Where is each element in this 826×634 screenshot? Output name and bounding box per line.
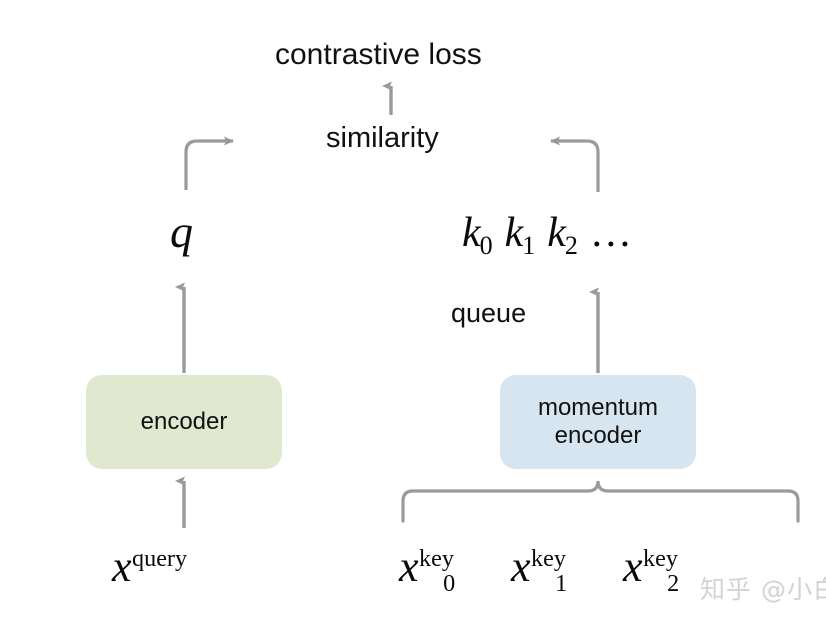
key-ellipsis: …	[590, 210, 634, 256]
encoder-box[interactable]: encoder	[86, 375, 282, 469]
input-x-key-1: xkey1	[511, 545, 568, 596]
k1-base: k	[505, 210, 524, 256]
momentum-encoder-box-label: momentum encoder	[538, 394, 658, 451]
input-x-query: xquery	[112, 545, 187, 589]
arrow-keys-to-similarity	[551, 141, 598, 192]
queue-label: queue	[451, 300, 526, 327]
x-key-1-superscript: key	[531, 545, 566, 572]
diagram-canvas: contrastive loss similarity queue q k0k1…	[0, 0, 826, 634]
x-key-2-base: x	[623, 542, 643, 591]
k0-base: k	[462, 210, 481, 256]
query-representation-symbol: q	[170, 209, 193, 255]
x-key-0-subscript: 0	[443, 570, 455, 597]
key-symbol-k0: k0	[462, 210, 493, 256]
arrow-layer	[0, 0, 826, 634]
x-key-0-superscript: key	[419, 545, 454, 572]
k1-subscript: 1	[522, 231, 535, 260]
x-query-superscript: query	[132, 545, 187, 572]
x-key-0-base: x	[399, 542, 419, 591]
k2-base: k	[547, 210, 566, 256]
key-inputs-brace	[403, 481, 798, 521]
encoder-box-label: encoder	[141, 408, 228, 436]
momentum-encoder-line-1: momentum	[538, 394, 658, 421]
input-x-key-0: xkey0	[399, 545, 456, 596]
key-symbol-k1: k1	[505, 210, 536, 256]
arrow-q-to-similarity	[186, 141, 233, 190]
x-key-1-base: x	[511, 542, 531, 591]
k2-subscript: 2	[565, 231, 578, 260]
x-query-base: x	[112, 542, 132, 591]
contrastive-loss-label: contrastive loss	[275, 40, 482, 70]
input-x-key-2: xkey2	[623, 545, 680, 596]
k0-subscript: 0	[480, 231, 493, 260]
x-key-2-superscript: key	[643, 545, 678, 572]
x-key-2-subscript: 2	[667, 570, 679, 597]
momentum-encoder-box[interactable]: momentum encoder	[500, 375, 696, 469]
key-symbol-k2: k2	[547, 210, 578, 256]
watermark: 知乎 @小白	[700, 570, 826, 606]
x-key-1-subscript: 1	[555, 570, 567, 597]
similarity-label: similarity	[326, 124, 439, 153]
key-representations-row: k0k1k2…	[462, 212, 634, 259]
momentum-encoder-line-2: encoder	[555, 422, 642, 449]
